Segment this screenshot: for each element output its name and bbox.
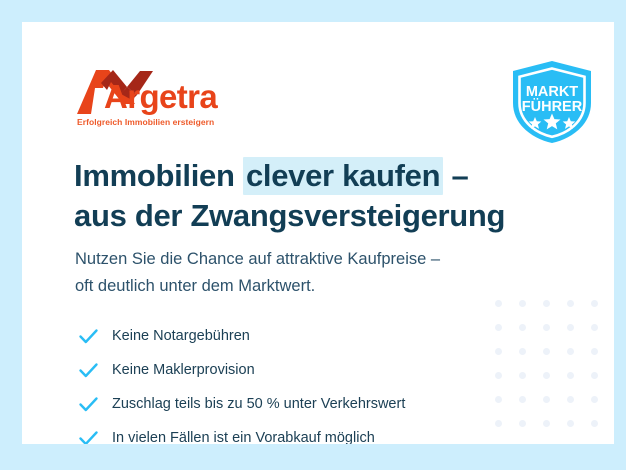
dot xyxy=(591,348,598,355)
list-item: In vielen Fällen ist ein Vorabkauf mögli… xyxy=(78,421,548,444)
page-title: Immobilien clever kaufen – aus der Zwang… xyxy=(74,156,574,235)
badge-line1: MARKT xyxy=(526,84,578,100)
headline-line-1: Immobilien clever kaufen – xyxy=(74,156,574,196)
dot xyxy=(591,396,598,403)
dot xyxy=(567,324,574,331)
check-icon xyxy=(78,394,99,415)
check-icon xyxy=(78,326,99,347)
argetra-logo: Argetra Erfolgreich Immobilien ersteiger… xyxy=(77,68,277,130)
subheading-line-2: oft deutlich unter dem Marktwert. xyxy=(75,273,595,300)
dot xyxy=(591,372,598,379)
headline-highlight: clever kaufen xyxy=(243,157,443,195)
promo-banner: Argetra Erfolgreich Immobilien ersteiger… xyxy=(0,0,626,470)
dot xyxy=(567,372,574,379)
dot xyxy=(591,300,598,307)
dot xyxy=(519,300,526,307)
list-item: Keine Notargebühren xyxy=(78,319,548,353)
argetra-tagline: Erfolgreich Immobilien ersteigern xyxy=(77,117,214,127)
subheading-line-1: Nutzen Sie die Chance auf attraktive Kau… xyxy=(75,246,595,273)
headline-part-after: – xyxy=(443,158,468,193)
promo-card: Argetra Erfolgreich Immobilien ersteiger… xyxy=(22,22,614,444)
dot xyxy=(567,420,574,427)
list-item-label: Zuschlag teils bis zu 50 % unter Verkehr… xyxy=(112,397,405,412)
subheading: Nutzen Sie die Chance auf attraktive Kau… xyxy=(75,246,595,299)
list-item-label: Keine Notargebühren xyxy=(112,329,250,344)
list-item-label: Keine Maklerprovision xyxy=(112,363,255,378)
argetra-wordmark: Argetra xyxy=(104,80,217,113)
benefits-list: Keine Notargebühren Keine Maklerprovisio… xyxy=(78,319,548,444)
dot xyxy=(567,348,574,355)
dot xyxy=(567,396,574,403)
badge-line2: FÜHRER xyxy=(522,98,583,115)
market-leader-badge: MARKT FÜHRER xyxy=(509,59,595,145)
check-icon xyxy=(78,360,99,381)
dot-row xyxy=(474,300,614,307)
check-icon xyxy=(78,428,99,445)
dot xyxy=(567,300,574,307)
list-item: Keine Maklerprovision xyxy=(78,353,548,387)
dot xyxy=(591,324,598,331)
headline-line-2: aus der Zwangsversteigerung xyxy=(74,196,574,236)
dot xyxy=(543,300,550,307)
dot xyxy=(495,300,502,307)
list-item: Zuschlag teils bis zu 50 % unter Verkehr… xyxy=(78,387,548,421)
list-item-label: In vielen Fällen ist ein Vorabkauf mögli… xyxy=(112,431,375,444)
headline-part-before: Immobilien xyxy=(74,158,243,193)
dot xyxy=(591,420,598,427)
